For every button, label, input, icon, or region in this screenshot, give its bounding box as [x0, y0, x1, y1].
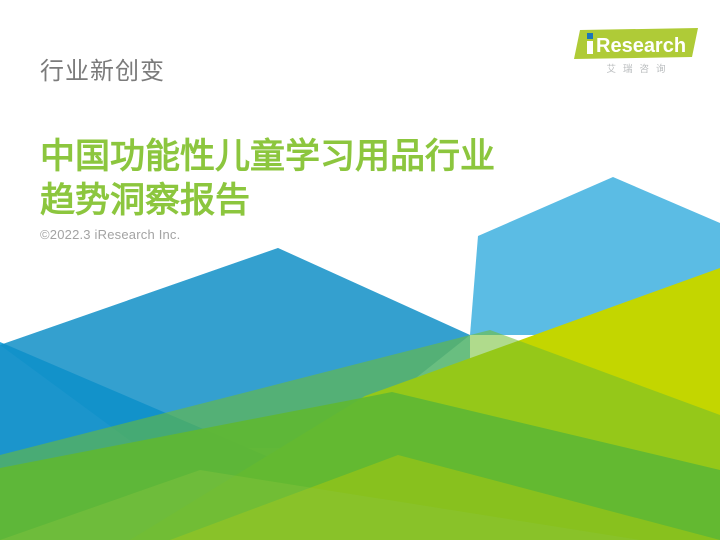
- iresearch-logo: Research 艾瑞咨询: [574, 28, 698, 76]
- page-title-line-2: 趋势洞察报告: [40, 179, 640, 223]
- report-cover: Research 艾瑞咨询 行业新创变 中国功能性儿童学习用品行业 趋势洞察报告…: [0, 0, 720, 540]
- page-title: 中国功能性儿童学习用品行业 趋势洞察报告: [40, 135, 640, 223]
- page-title-line-1: 中国功能性儿童学习用品行业: [40, 135, 640, 179]
- copyright-notice: ©2022.3 iResearch Inc.: [40, 226, 180, 244]
- logo-i-dot: [587, 33, 593, 39]
- logo-badge: Research: [574, 28, 698, 59]
- cover-eyebrow: 行业新创变: [40, 56, 165, 88]
- logo-i-stem: [587, 41, 593, 54]
- logo-wordmark: Research: [596, 35, 686, 57]
- logo-subtitle: 艾瑞咨询: [574, 64, 698, 76]
